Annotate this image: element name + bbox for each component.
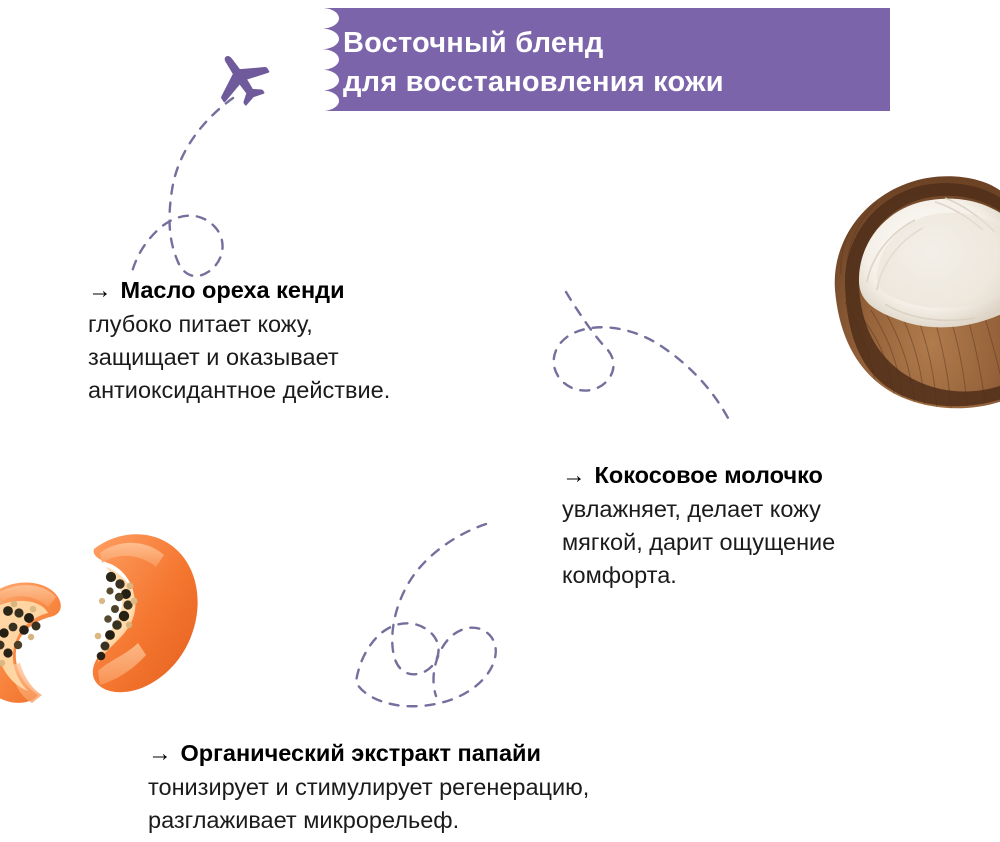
papaya-image <box>0 505 212 720</box>
lower-loop-path <box>356 524 496 706</box>
ingredient-3-description: тонизирует и стимулирует регенерацию, ра… <box>148 771 808 837</box>
ribbon-title: Восточный бленд для восстановления кожи <box>343 24 873 101</box>
plane-trail-path <box>132 98 233 276</box>
ingredient-2-heading: →Кокосовое молочко <box>562 460 962 490</box>
ingredient-block-1: →Масло ореха кенди глубоко питает кожу, … <box>88 275 518 407</box>
coconut-image <box>815 162 1000 414</box>
ingredient-1-description: глубоко питает кожу, защищает и оказывае… <box>88 308 518 407</box>
promo-poster: Восточный бленд для восстановления кожи <box>0 0 1000 842</box>
papaya-slice-lower <box>0 582 61 703</box>
ingredient-1-heading: →Масло ореха кенди <box>88 275 518 305</box>
middle-loop-path <box>554 292 728 418</box>
arrow-right-icon: → <box>562 460 586 490</box>
header-ribbon: Восточный бленд для восстановления кожи <box>305 8 890 111</box>
ingredient-2-name: Кокосовое молочко <box>595 462 823 488</box>
ingredient-2-description: увлажняет, делает кожу мягкой, дарит ощу… <box>562 493 962 592</box>
ingredient-3-name: Органический экстракт папайи <box>181 740 541 766</box>
arrow-right-icon: → <box>88 275 112 305</box>
ingredient-block-3: →Органический экстракт папайи тонизирует… <box>148 738 808 837</box>
ingredient-1-name: Масло ореха кенди <box>121 277 345 303</box>
ingredient-block-2: →Кокосовое молочко увлажняет, делает кож… <box>562 460 962 592</box>
ingredient-3-heading: →Органический экстракт папайи <box>148 738 808 768</box>
airplane-icon <box>212 48 274 110</box>
arrow-right-icon: → <box>148 738 172 768</box>
papaya-slice-upper <box>93 534 198 692</box>
papaya-seeds-lower <box>0 599 41 666</box>
